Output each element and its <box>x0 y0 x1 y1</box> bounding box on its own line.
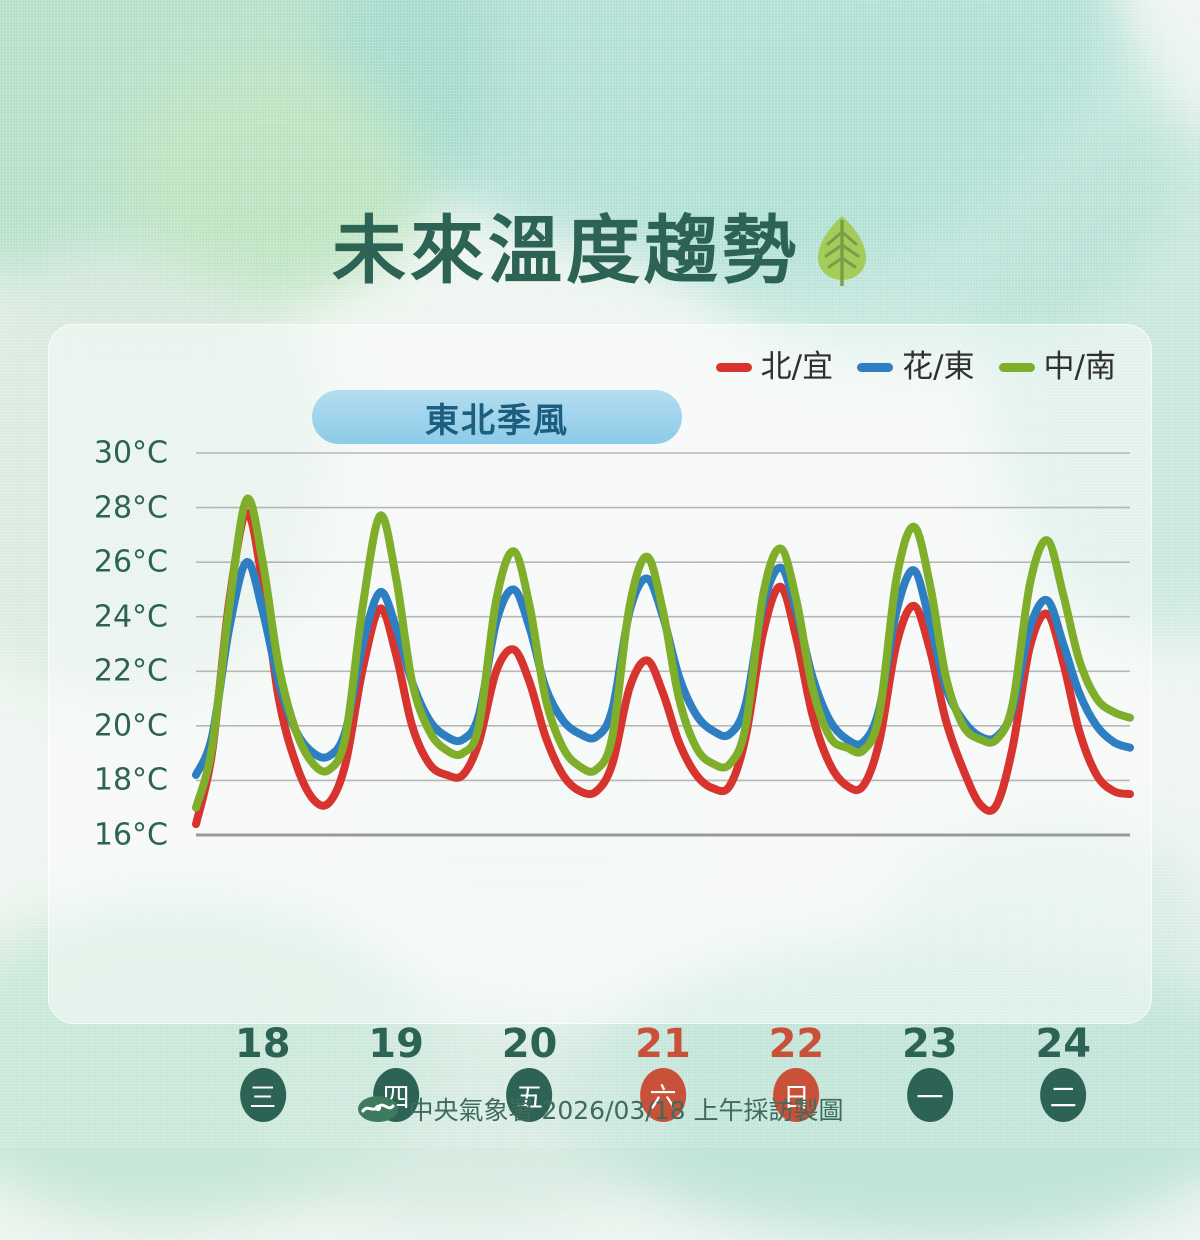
legend-swatch-blue <box>857 363 893 372</box>
legend-swatch-red <box>716 363 752 372</box>
cwa-logo-icon <box>357 1095 399 1123</box>
x-axis-day-number: 23 <box>902 1024 958 1064</box>
x-axis-day-number: 18 <box>235 1024 291 1064</box>
legend-label-north-yilan: 北/宜 <box>761 352 833 383</box>
footer: 中央氣象署 2026/03/18 上午採訪製圖 <box>0 1091 1200 1127</box>
x-axis-day-number: 20 <box>502 1024 558 1064</box>
chart-card: 北/宜 花/東 中/南 東北季風 30°C28°C26°C24°C22°C20°… <box>48 324 1152 1024</box>
title-row: 未來溫度趨勢 <box>0 214 1200 288</box>
footer-text: 中央氣象署 2026/03/18 上午採訪製圖 <box>409 1091 844 1127</box>
legend-item-hualien-taitung[interactable]: 花/東 <box>857 352 974 383</box>
monsoon-annotation-pill: 東北季風 <box>312 390 682 444</box>
chart-legend: 北/宜 花/東 中/南 <box>716 352 1116 383</box>
x-axis-day-number: 22 <box>769 1024 825 1064</box>
legend-item-north-yilan[interactable]: 北/宜 <box>716 352 833 383</box>
monsoon-label: 東北季風 <box>425 393 569 442</box>
leaf-icon <box>816 214 868 288</box>
x-axis-day-number: 19 <box>368 1024 424 1064</box>
legend-label-central-south: 中/南 <box>1044 352 1116 383</box>
legend-label-hualien-taitung: 花/東 <box>902 352 974 383</box>
page-title: 未來溫度趨勢 <box>332 214 800 288</box>
legend-swatch-green <box>999 363 1035 372</box>
x-axis-day-number: 24 <box>1035 1024 1091 1064</box>
x-axis-day-number: 21 <box>635 1024 691 1064</box>
legend-item-central-south[interactable]: 中/南 <box>999 352 1116 383</box>
